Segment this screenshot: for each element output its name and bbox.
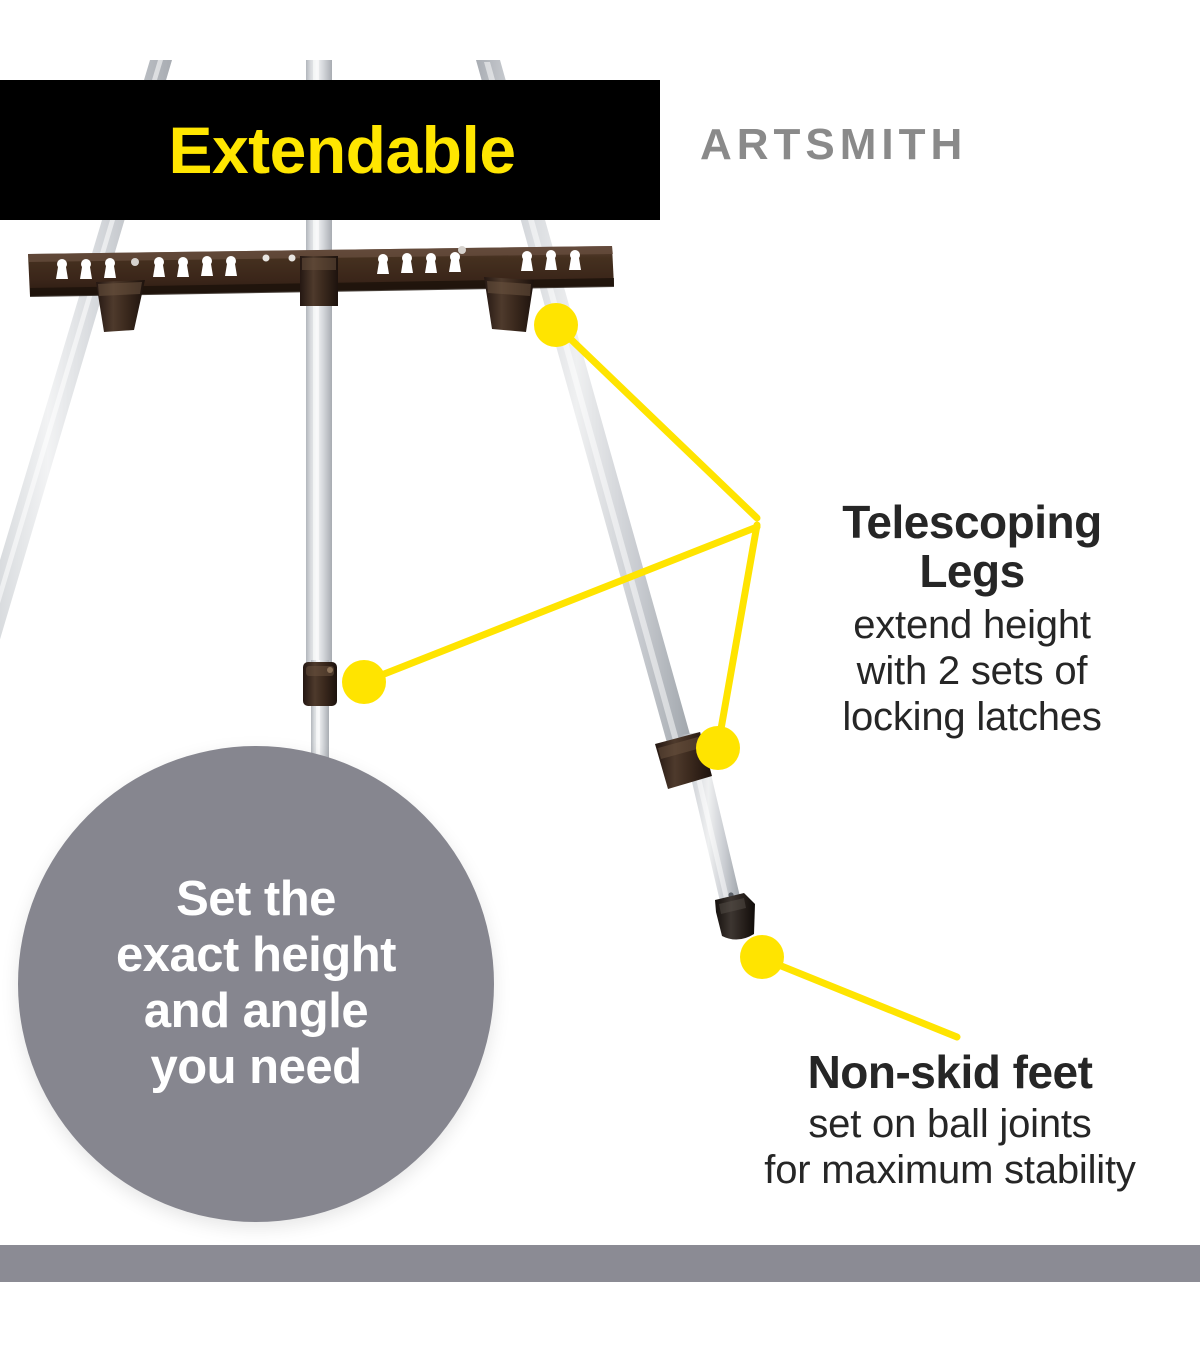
callout-body-line: locking latches bbox=[752, 694, 1192, 740]
callout-non-skid-feet: Non-skid feet set on ball joints for max… bbox=[700, 1048, 1200, 1194]
product-feature-graphic: Extendable ARTSMITH Telescoping Legs bbox=[0, 0, 1200, 1360]
callout-telescoping-legs-title: Telescoping Legs bbox=[752, 498, 1192, 596]
callout-non-skid-feet-body: set on ball joints for maximum stability bbox=[700, 1101, 1200, 1194]
callout-dots bbox=[342, 303, 784, 979]
callout-non-skid-feet-title: Non-skid feet bbox=[700, 1048, 1200, 1097]
callout-telescoping-legs: Telescoping Legs extend height with 2 se… bbox=[752, 498, 1192, 741]
callout-dot-center-latch bbox=[342, 660, 386, 704]
callout-body-line: for maximum stability bbox=[700, 1147, 1200, 1193]
callout-title-line: Telescoping bbox=[752, 498, 1192, 547]
callout-telescoping-legs-body: extend height with 2 sets of locking lat… bbox=[752, 602, 1192, 741]
callout-dot-lower-latch bbox=[696, 726, 740, 770]
callout-title-line: Non-skid feet bbox=[700, 1048, 1200, 1097]
callout-title-line: Legs bbox=[752, 547, 1192, 596]
callout-body-line: with 2 sets of bbox=[752, 648, 1192, 694]
callout-body-line: extend height bbox=[752, 602, 1192, 648]
callout-dot-upper-leg bbox=[534, 303, 578, 347]
callout-dot-foot bbox=[740, 935, 784, 979]
callout-body-line: set on ball joints bbox=[700, 1101, 1200, 1147]
